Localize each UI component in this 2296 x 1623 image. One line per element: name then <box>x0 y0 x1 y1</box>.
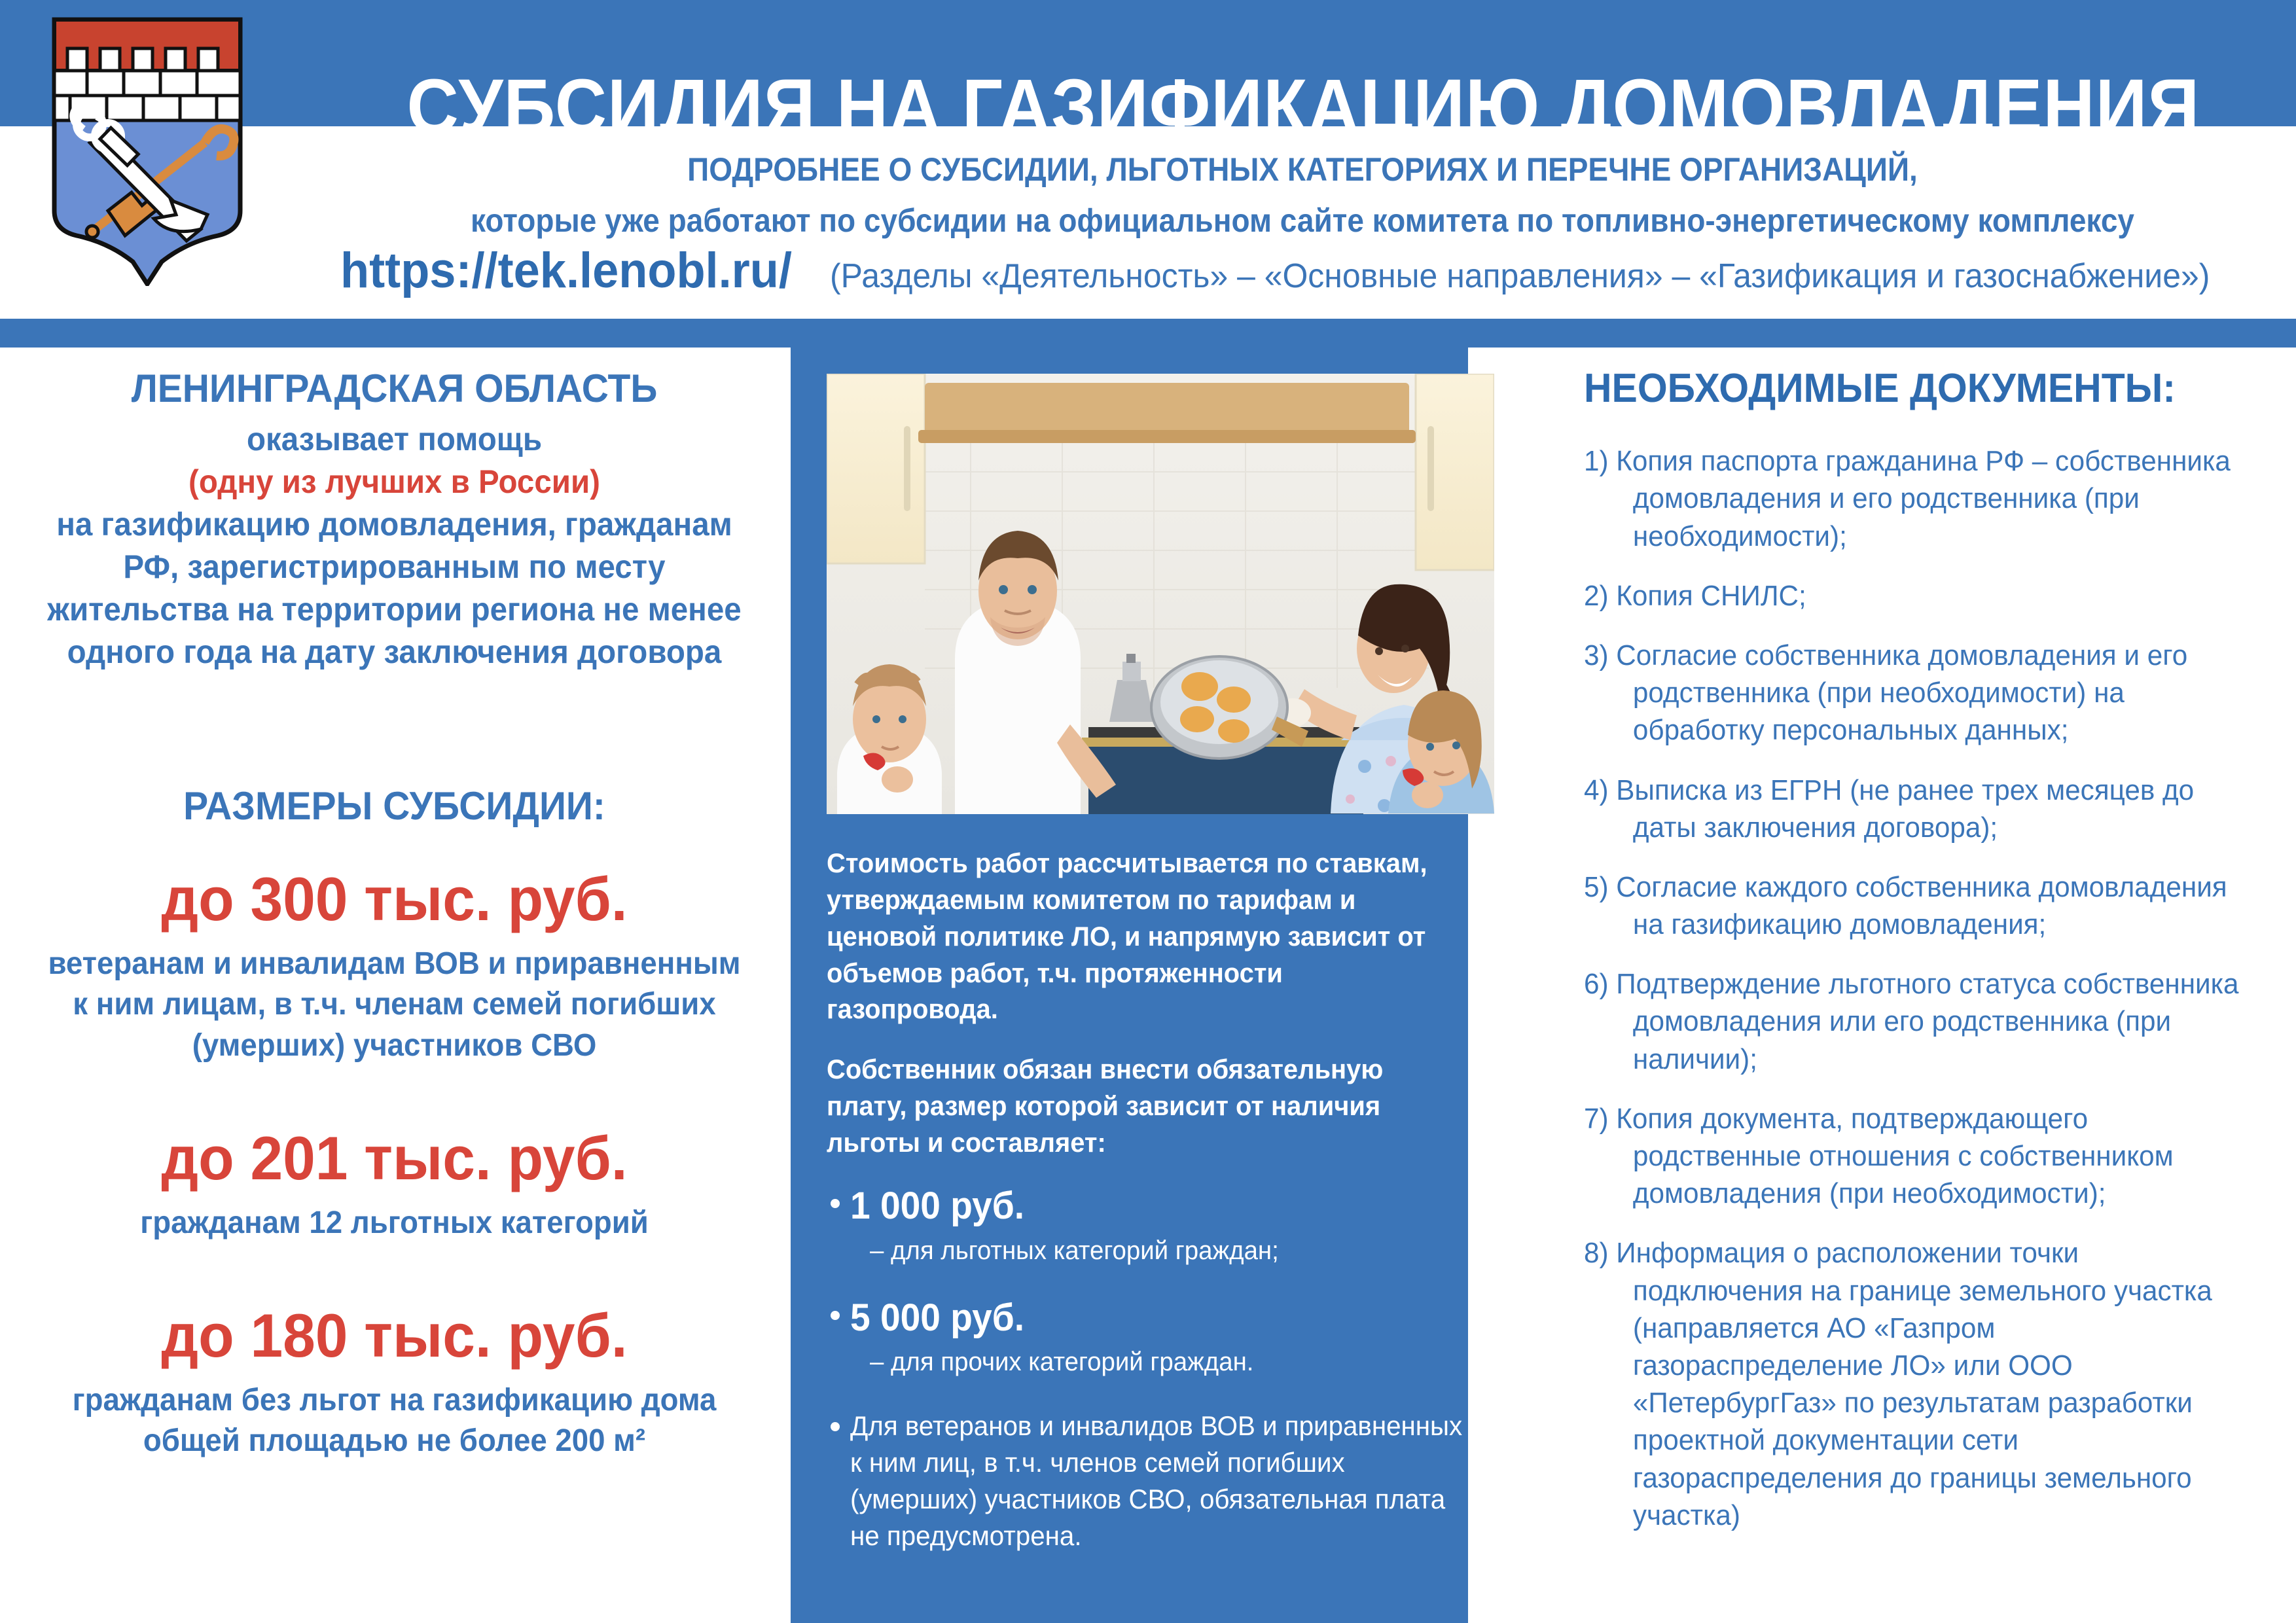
official-site-url[interactable]: https://tek.lenobl.ru/ <box>340 246 792 296</box>
middle-column-panel: Стоимость работ рассчитывается по ставка… <box>791 348 1468 1623</box>
page-title: СУБСИДИЯ НА ГАЗИФИКАЦИЮ ДОМОВЛАДЕНИЯ <box>407 63 2172 150</box>
subsidy-amount-desc-1-line-3: (умерших) участников СВО <box>41 1026 747 1066</box>
subsidy-amount-desc-3-line-2: общей площадью не более 200 м² <box>41 1421 747 1461</box>
document-item-3: 3) Согласие собственника домовладения и … <box>1584 637 2250 749</box>
header-divider-rule <box>0 319 2296 348</box>
leningrad-oblast-coat-of-arms-icon <box>49 14 245 286</box>
document-item-4: 4) Выписка из ЕГРН (не ранее трех месяце… <box>1584 772 2250 846</box>
subsidy-amount-block-1: до 300 тыс. руб. ветеранам и инвалидам В… <box>23 867 766 1066</box>
intro-line-1-highlight: (одну из лучших в России) <box>41 461 747 503</box>
amount-spacer-1 <box>23 1066 766 1126</box>
header-subtitle-line-1: ПОДРОБНЕЕ О СУБСИДИИ, ЛЬГОТНЫХ КАТЕГОРИЯ… <box>418 152 2188 188</box>
subsidy-amount-desc-3-line-1: гражданам без льгот на газификацию дома <box>41 1380 747 1421</box>
subsidy-amount-value-3: до 180 тыс. руб. <box>41 1304 747 1368</box>
header-subtitle-line-2: которые уже работают по субсидии на офиц… <box>418 203 2188 239</box>
subsidy-amount-desc-1-line-1: ветеранам и инвалидам ВОВ и приравненным <box>41 944 747 984</box>
header-url-row: https://tek.lenobl.ru/(Разделы «Деятельн… <box>340 246 2265 296</box>
fee-amount-2: 5 000 руб. <box>850 1296 1462 1340</box>
bullet-dot-icon <box>831 1311 840 1320</box>
bullet-dot-icon <box>831 1199 840 1208</box>
subsidy-amount-block-2: до 201 тыс. руб. гражданам 12 льготных к… <box>23 1126 766 1243</box>
document-item-1: 1) Копия паспорта гражданина РФ – собств… <box>1584 442 2250 555</box>
fee-item-2: 5 000 руб. <box>827 1296 1494 1340</box>
fee-note-2: – для прочих категорий граждан. <box>870 1345 1469 1379</box>
amount-spacer-2 <box>23 1243 766 1304</box>
document-item-6: 6) Подтверждение льготного статуса собст… <box>1584 965 2250 1078</box>
intro-line-5: одного года на дату заключения договора <box>41 631 747 673</box>
middle-column-body: Стоимость работ рассчитывается по ставка… <box>827 845 1494 1554</box>
intro-line-0: оказывает помощь <box>41 418 747 461</box>
subsidy-amount-desc-1-line-2: к ним лицам, в т.ч. членам семей погибши… <box>41 984 747 1025</box>
intro-line-3: РФ, зарегистрированным по месту <box>41 546 747 588</box>
intro-line-2: на газификацию домовладения, гражданам <box>41 503 747 546</box>
fee-amount-1: 1 000 руб. <box>850 1185 1462 1228</box>
subsidy-amount-block-3: до 180 тыс. руб. гражданам без льгот на … <box>23 1304 766 1461</box>
left-spacer <box>23 673 766 785</box>
intro-line-4: жительства на территории региона не мене… <box>41 588 747 631</box>
document-item-8: 8) Информация о расположении точки подкл… <box>1584 1234 2250 1534</box>
right-column: НЕОБХОДИМЫЕ ДОКУМЕНТЫ: 1) Копия паспорта… <box>1584 366 2278 1556</box>
fee-note-1: – для льготных категорий граждан; <box>870 1234 1469 1268</box>
required-documents-title: НЕОБХОДИМЫЕ ДОКУМЕНТЫ: <box>1584 366 2243 411</box>
subsidy-sizes-title: РАЗМЕРЫ СУБСИДИИ: <box>41 785 747 828</box>
infographic-page: СУБСИДИЯ НА ГАЗИФИКАЦИЮ ДОМОВЛАДЕНИЯ ПОД… <box>0 0 2296 1623</box>
region-title: ЛЕНИНГРАДСКАЯ ОБЛАСТЬ <box>41 366 747 410</box>
document-item-2: 2) Копия СНИЛС; <box>1584 577 2250 615</box>
mandatory-fee-paragraph: Собственник обязан внести обязательную п… <box>827 1051 1461 1161</box>
document-item-5: 5) Согласие каждого собственника домовла… <box>1584 868 2250 943</box>
veterans-exemption-text: Для ветеранов и инвалидов ВОВ и приравне… <box>850 1408 1469 1554</box>
family-kitchen-photo <box>827 374 1494 814</box>
document-item-7: 7) Копия документа, подтверждающего родс… <box>1584 1100 2250 1213</box>
cost-calculation-paragraph: Стоимость работ рассчитывается по ставка… <box>827 845 1461 1027</box>
left-column: ЛЕНИНГРАДСКАЯ ОБЛАСТЬ оказывает помощь (… <box>23 366 766 1597</box>
site-sections-note: (Разделы «Деятельность» – «Основные напр… <box>830 259 2210 293</box>
veterans-exemption-note: Для ветеранов и инвалидов ВОВ и приравне… <box>827 1408 1494 1554</box>
subsidy-amount-value-2: до 201 тыс. руб. <box>41 1126 747 1191</box>
subsidy-amount-value-1: до 300 тыс. руб. <box>41 867 747 932</box>
bullet-dot-icon <box>831 1422 840 1431</box>
subsidy-amount-desc-2-line-1: гражданам 12 льготных категорий <box>41 1203 747 1243</box>
fee-item-1: 1 000 руб. <box>827 1185 1494 1228</box>
